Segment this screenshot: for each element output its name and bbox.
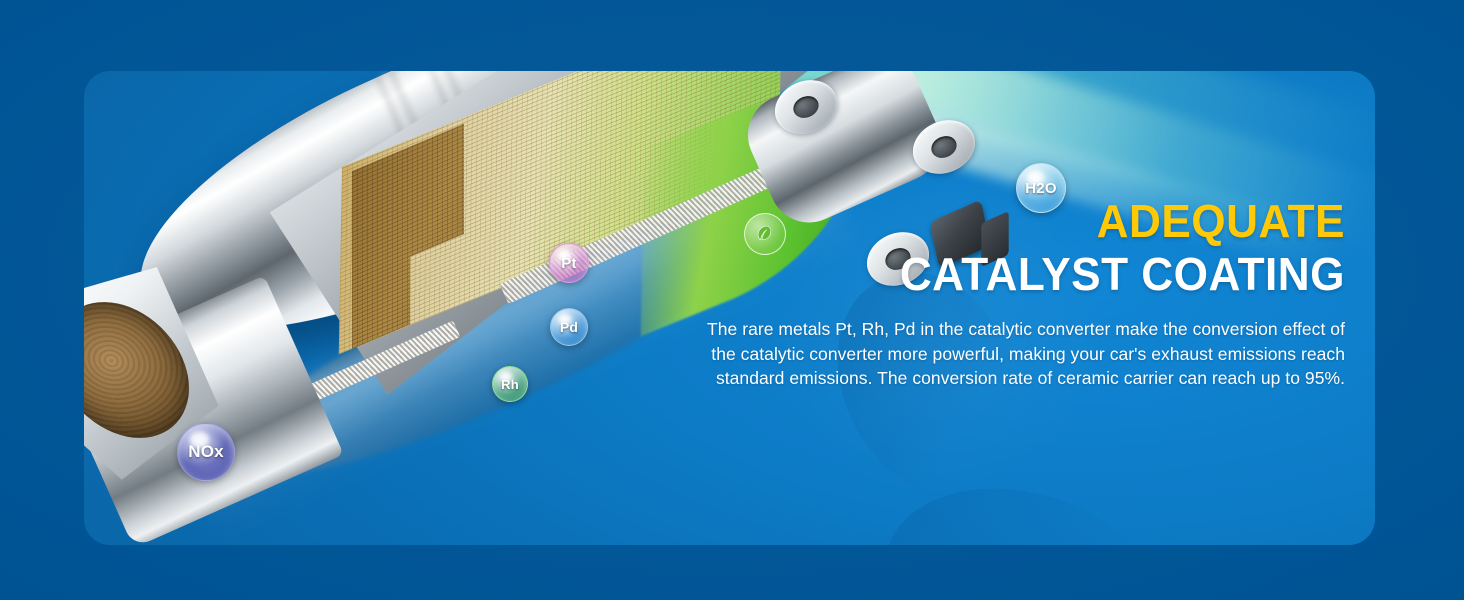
bolt-hole — [928, 132, 960, 162]
headline-secondary: CATALYST COATING — [731, 247, 1345, 301]
label-bubble-pd: Pd — [550, 308, 588, 346]
copy-block: ADEQUATE CATALYST COATING The rare metal… — [705, 195, 1345, 391]
promo-banner: Pt Pd Rh H2O NOx ADEQUATE CATALYST COATI… — [0, 0, 1464, 600]
label-bubble-pt: Pt — [549, 243, 589, 283]
label-bubble-nox: NOx — [177, 423, 235, 481]
content-card: Pt Pd Rh H2O NOx ADEQUATE CATALYST COATI… — [84, 71, 1375, 545]
label-bubble-rh: Rh — [492, 366, 528, 402]
description-paragraph: The rare metals Pt, Rh, Pd in the cataly… — [705, 317, 1345, 391]
headline-primary: ADEQUATE — [731, 195, 1345, 247]
bolt-hole — [790, 92, 822, 122]
